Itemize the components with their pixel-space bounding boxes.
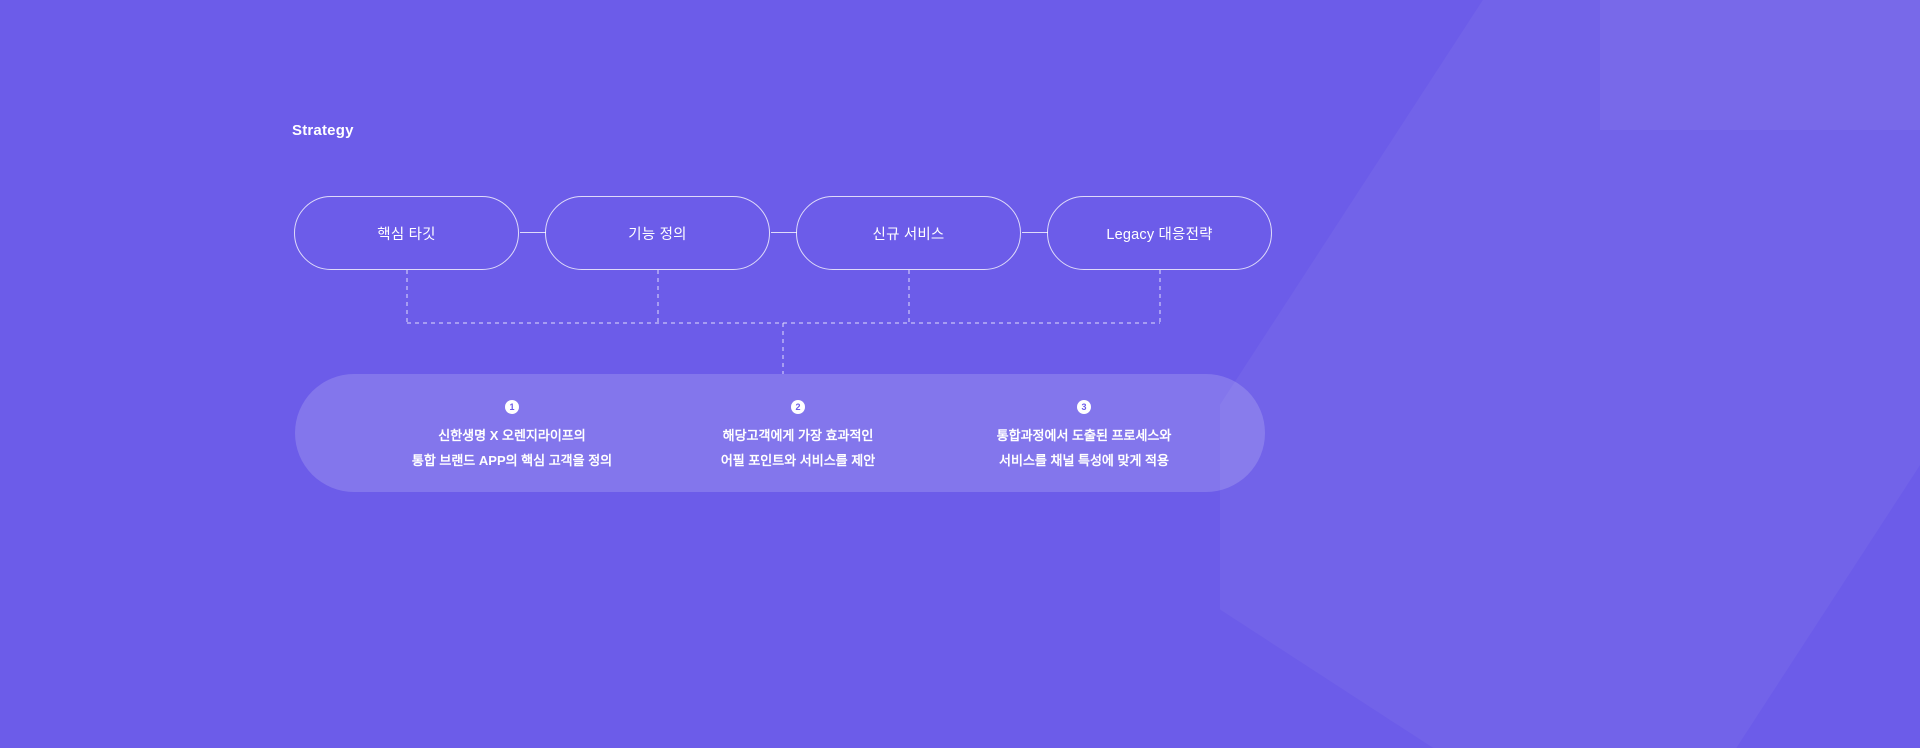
flow-step-label: 기능 정의 <box>628 223 686 244</box>
section-title: Strategy <box>292 122 354 139</box>
summary-items: 1 신한생명 X 오렌지라이프의 통합 브랜드 APP의 핵심 고객을 정의 2… <box>295 374 1265 492</box>
flow-step-function-definition[interactable]: 기능 정의 <box>545 196 770 270</box>
step-connector <box>771 232 797 233</box>
summary-item-number-badge: 3 <box>1077 400 1091 414</box>
summary-item: 2 해당고객에게 가장 효과적인 어필 포인트와 서비스를 제안 <box>688 400 908 473</box>
summary-item-line-1: 신한생명 X 오렌지라이프의 <box>438 423 585 448</box>
flow-step-core-target[interactable]: 핵심 타깃 <box>294 196 519 270</box>
summary-item-line-1: 해당고객에게 가장 효과적인 <box>723 423 874 448</box>
summary-item: 1 신한생명 X 오렌지라이프의 통합 브랜드 APP의 핵심 고객을 정의 <box>402 400 622 473</box>
summary-item: 3 통합과정에서 도출된 프로세스와 서비스를 채널 특성에 맞게 적용 <box>974 400 1194 473</box>
summary-item-number-badge: 1 <box>505 400 519 414</box>
flow-step-label: 핵심 타깃 <box>377 223 435 244</box>
background-decoration <box>1220 0 1920 748</box>
flow-step-label: Legacy 대응전략 <box>1106 223 1212 244</box>
step-connector <box>520 232 546 233</box>
summary-item-line-2: 통합 브랜드 APP의 핵심 고객을 정의 <box>412 448 612 473</box>
background-slab-diagonal <box>1220 0 1920 748</box>
flow-step-new-service[interactable]: 신규 서비스 <box>796 196 1021 270</box>
flow-steps: 핵심 타깃 기능 정의 신규 서비스 Legacy 대응전략 <box>294 196 1274 270</box>
summary-item-line-2: 어필 포인트와 서비스를 제안 <box>721 448 875 473</box>
step-connector <box>1022 232 1048 233</box>
summary-item-line-1: 통합과정에서 도출된 프로세스와 <box>997 423 1172 448</box>
flow-step-label: 신규 서비스 <box>873 223 945 244</box>
background-slab-top <box>1600 0 1920 130</box>
summary-item-line-2: 서비스를 채널 특성에 맞게 적용 <box>999 448 1169 473</box>
summary-item-number-badge: 2 <box>791 400 805 414</box>
flow-step-legacy-strategy[interactable]: Legacy 대응전략 <box>1047 196 1272 270</box>
